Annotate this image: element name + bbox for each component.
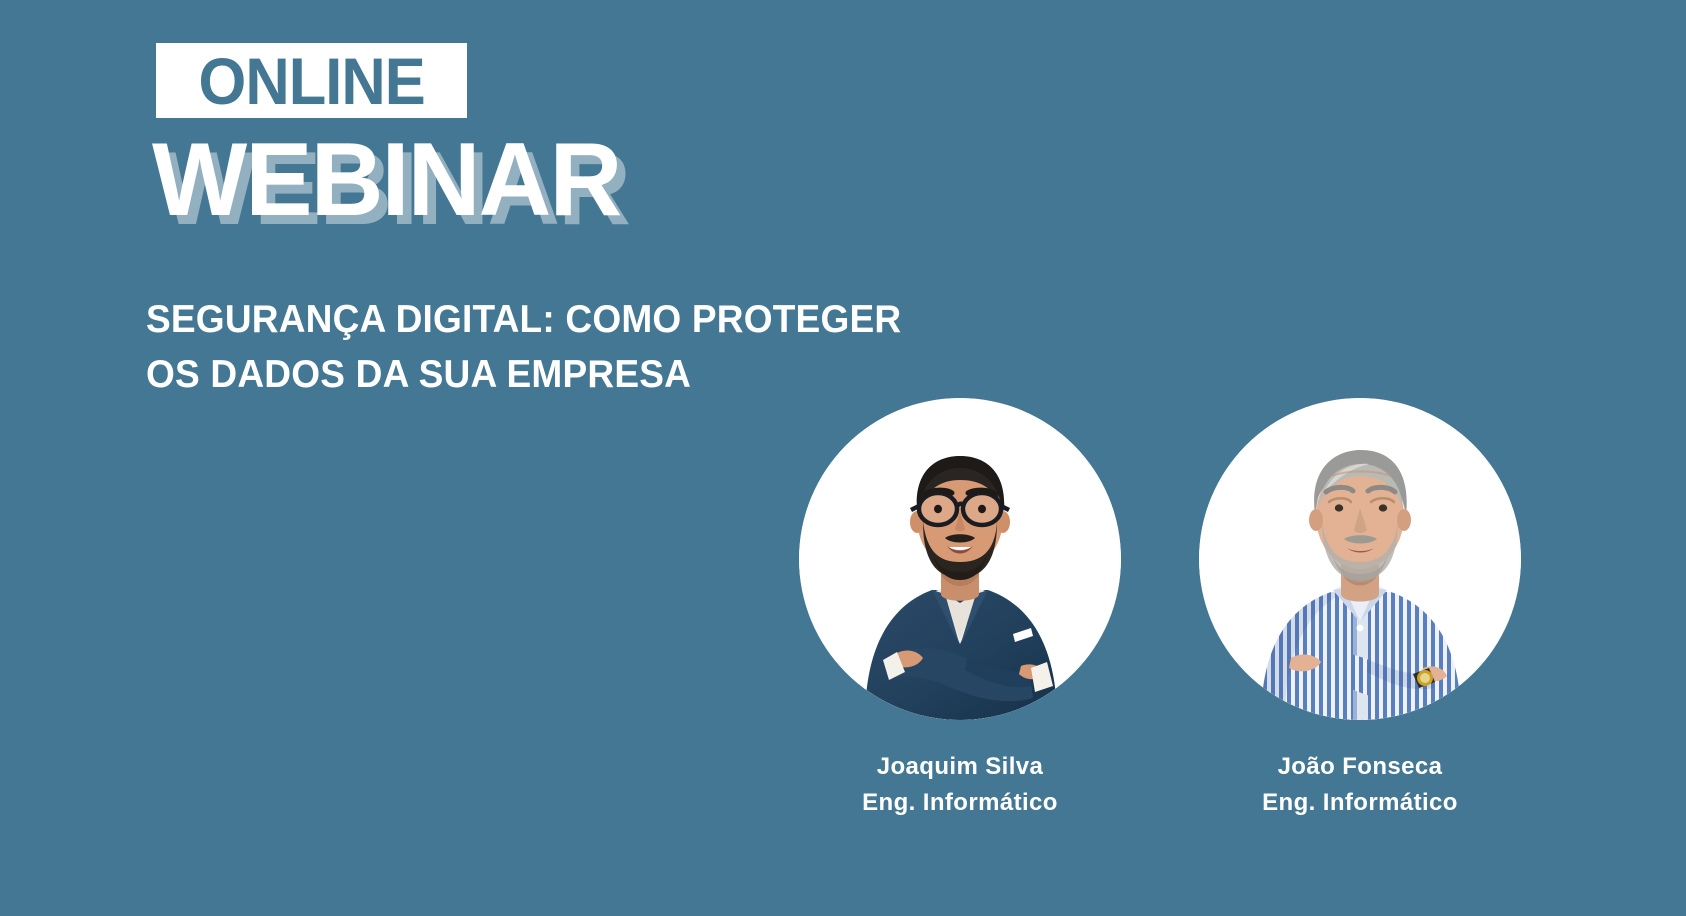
speaker-role: Eng. Informático (790, 785, 1130, 821)
online-badge-label: ONLINE (198, 48, 424, 114)
portrait-man-glasses-navy-blazer (799, 398, 1121, 720)
webinar-wordmark: WEBINAR (152, 128, 620, 232)
online-badge: ONLINE (156, 43, 467, 118)
avatar (1199, 398, 1521, 720)
webinar-poster: ONLINE WEBINAR SEGURANÇA DIGITAL: COMO P… (0, 0, 1686, 916)
speaker-card: João Fonseca Eng. Informático (1190, 398, 1530, 821)
avatar (799, 398, 1121, 720)
portrait-man-gray-hair-striped-shirt (1199, 398, 1521, 720)
speaker-role: Eng. Informático (1190, 785, 1530, 821)
speaker-name: João Fonseca (1190, 749, 1530, 785)
webinar-subtitle: SEGURANÇA DIGITAL: COMO PROTEGER OS DADO… (146, 292, 1001, 403)
subtitle-line-1: SEGURANÇA DIGITAL: COMO PROTEGER (146, 292, 1001, 347)
speaker-card: Joaquim Silva Eng. Informático (790, 398, 1130, 821)
speaker-name: Joaquim Silva (790, 749, 1130, 785)
subtitle-line-2: OS DADOS DA SUA EMPRESA (146, 347, 1001, 402)
